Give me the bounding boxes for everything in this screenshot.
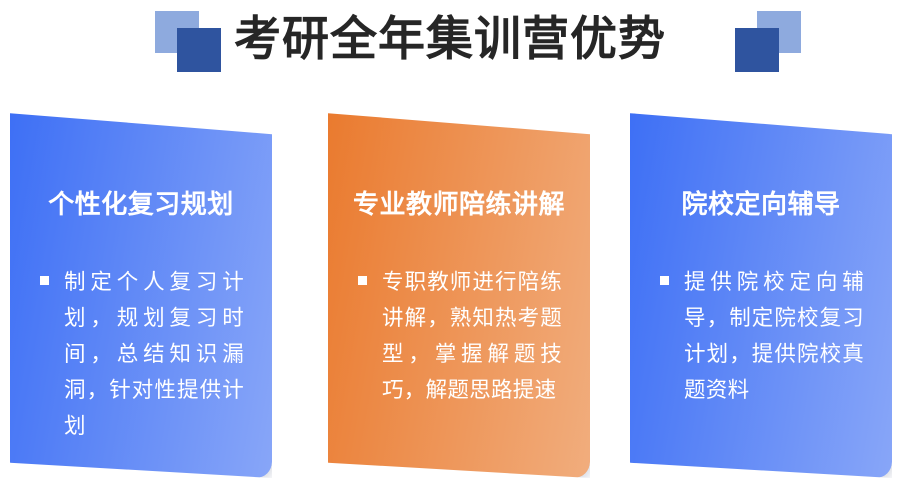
card-bullet-text: 提供院校定向辅导，制定院校复习计划，提供院校真题资料 <box>684 264 864 408</box>
card-content: 院校定向辅导 提供院校定向辅导，制定院校复习计划，提供院校真题资料 <box>630 96 892 478</box>
feature-card[interactable]: 院校定向辅导 提供院校定向辅导，制定院校复习计划，提供院校真题资料 <box>630 96 892 478</box>
page-header: 考研全年集训营优势 <box>0 0 900 96</box>
bullet-square-icon <box>358 276 367 285</box>
decoration-square-dark-icon <box>735 28 779 72</box>
card-heading: 个性化复习规划 <box>10 184 272 221</box>
card-content: 个性化复习规划 制定个人复习计划，规划复习时间，总结知识漏洞，针对性提供计划 <box>10 96 272 478</box>
card-bullet-item: 专职教师进行陪练讲解，熟知热考题型，掌握解题技巧，解题思路提速 <box>358 264 562 408</box>
card-bullet-text: 专职教师进行陪练讲解，熟知热考题型，掌握解题技巧，解题思路提速 <box>382 264 562 408</box>
header-decoration-right <box>735 6 805 76</box>
feature-card[interactable]: 专业教师陪练讲解 专职教师进行陪练讲解，熟知热考题型，掌握解题技巧，解题思路提速 <box>328 96 590 478</box>
bullet-square-icon <box>40 276 49 285</box>
card-heading: 专业教师陪练讲解 <box>328 184 590 221</box>
card-heading: 院校定向辅导 <box>630 184 892 221</box>
bullet-square-icon <box>660 276 669 285</box>
feature-card-list: 个性化复习规划 制定个人复习计划，规划复习时间，总结知识漏洞，针对性提供计划 专… <box>0 96 900 492</box>
card-bullet-item: 制定个人复习计划，规划复习时间，总结知识漏洞，针对性提供计划 <box>40 264 244 444</box>
feature-card[interactable]: 个性化复习规划 制定个人复习计划，规划复习时间，总结知识漏洞，针对性提供计划 <box>10 96 272 478</box>
card-bullet-item: 提供院校定向辅导，制定院校复习计划，提供院校真题资料 <box>660 264 864 408</box>
card-bullet-text: 制定个人复习计划，规划复习时间，总结知识漏洞，针对性提供计划 <box>64 264 244 444</box>
card-content: 专业教师陪练讲解 专职教师进行陪练讲解，熟知热考题型，掌握解题技巧，解题思路提速 <box>328 96 590 478</box>
